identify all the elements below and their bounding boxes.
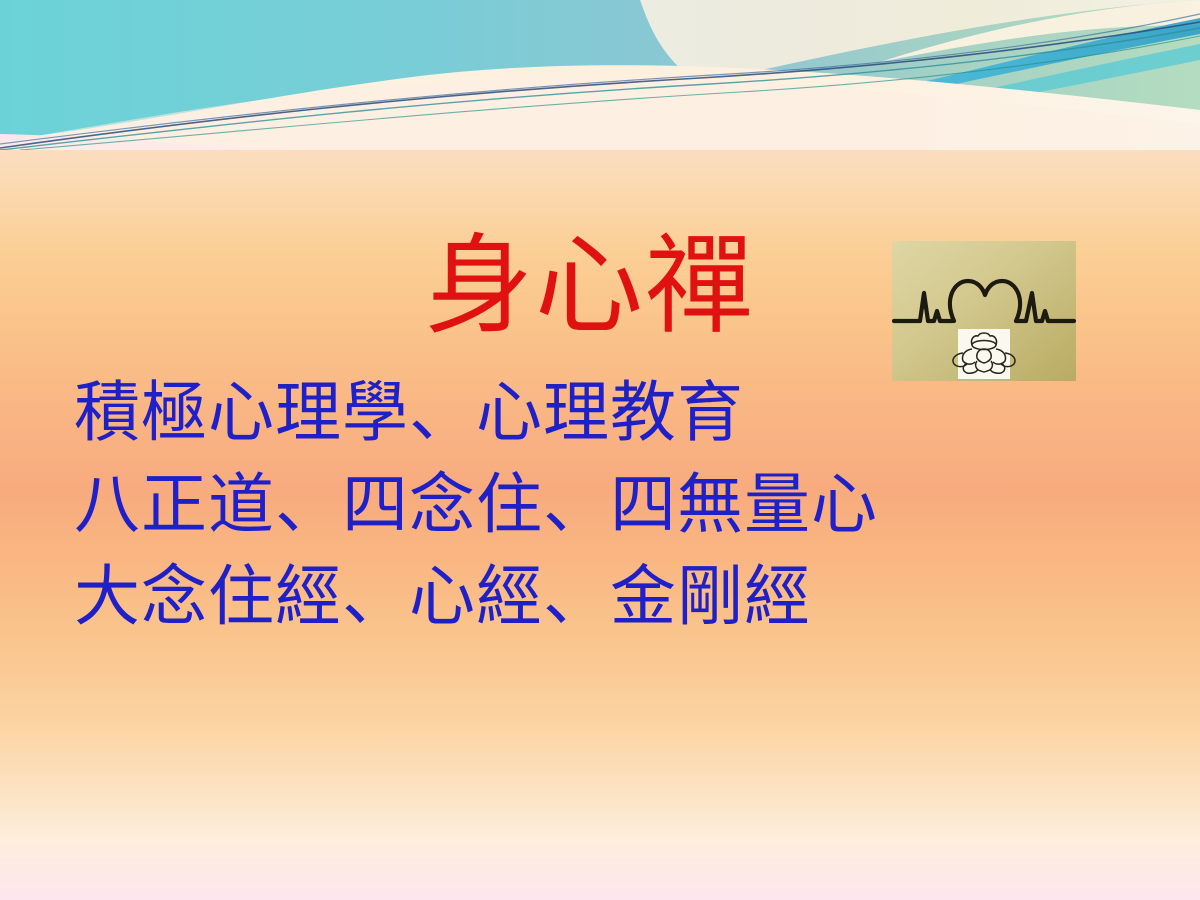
- slide-title: 身心禪: [425, 232, 785, 344]
- body-line-1: 積極心理學、心理教育: [74, 368, 1074, 460]
- presentation-slide: 身心禪: [0, 0, 1200, 900]
- heartbeat-lotus-photo: [892, 241, 1076, 381]
- body-line-3: 大念住經、心經、金剛經: [74, 552, 1074, 644]
- wave-banner-decoration: [0, 0, 1200, 150]
- slide-body: 積極心理學、心理教育 八正道、四念住、四無量心 大念住經、心經、金剛經: [74, 368, 1074, 644]
- body-line-2: 八正道、四念住、四無量心: [74, 460, 1074, 552]
